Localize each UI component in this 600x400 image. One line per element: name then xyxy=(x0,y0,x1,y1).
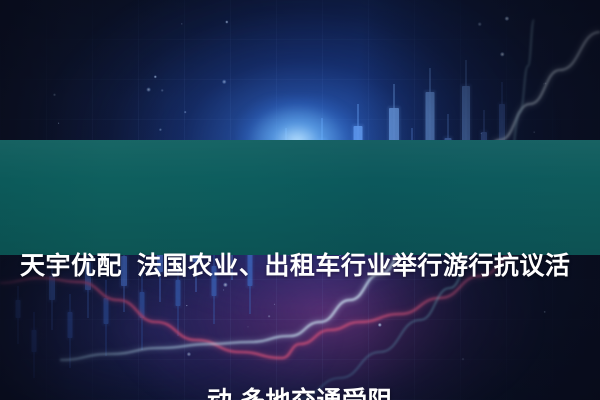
headline-line-2: 动 多地交通受阻 xyxy=(8,379,592,400)
headline-text: 天宇优配 法国农业、出租车行业举行游行抗议活 动 多地交通受阻 xyxy=(0,154,600,400)
headline-line-1: 天宇优配 法国农业、出租车行业举行游行抗议活 xyxy=(8,244,592,289)
thumbnail-image: 天宇优配 法国农业、出租车行业举行游行抗议活 动 多地交通受阻 xyxy=(0,0,600,400)
